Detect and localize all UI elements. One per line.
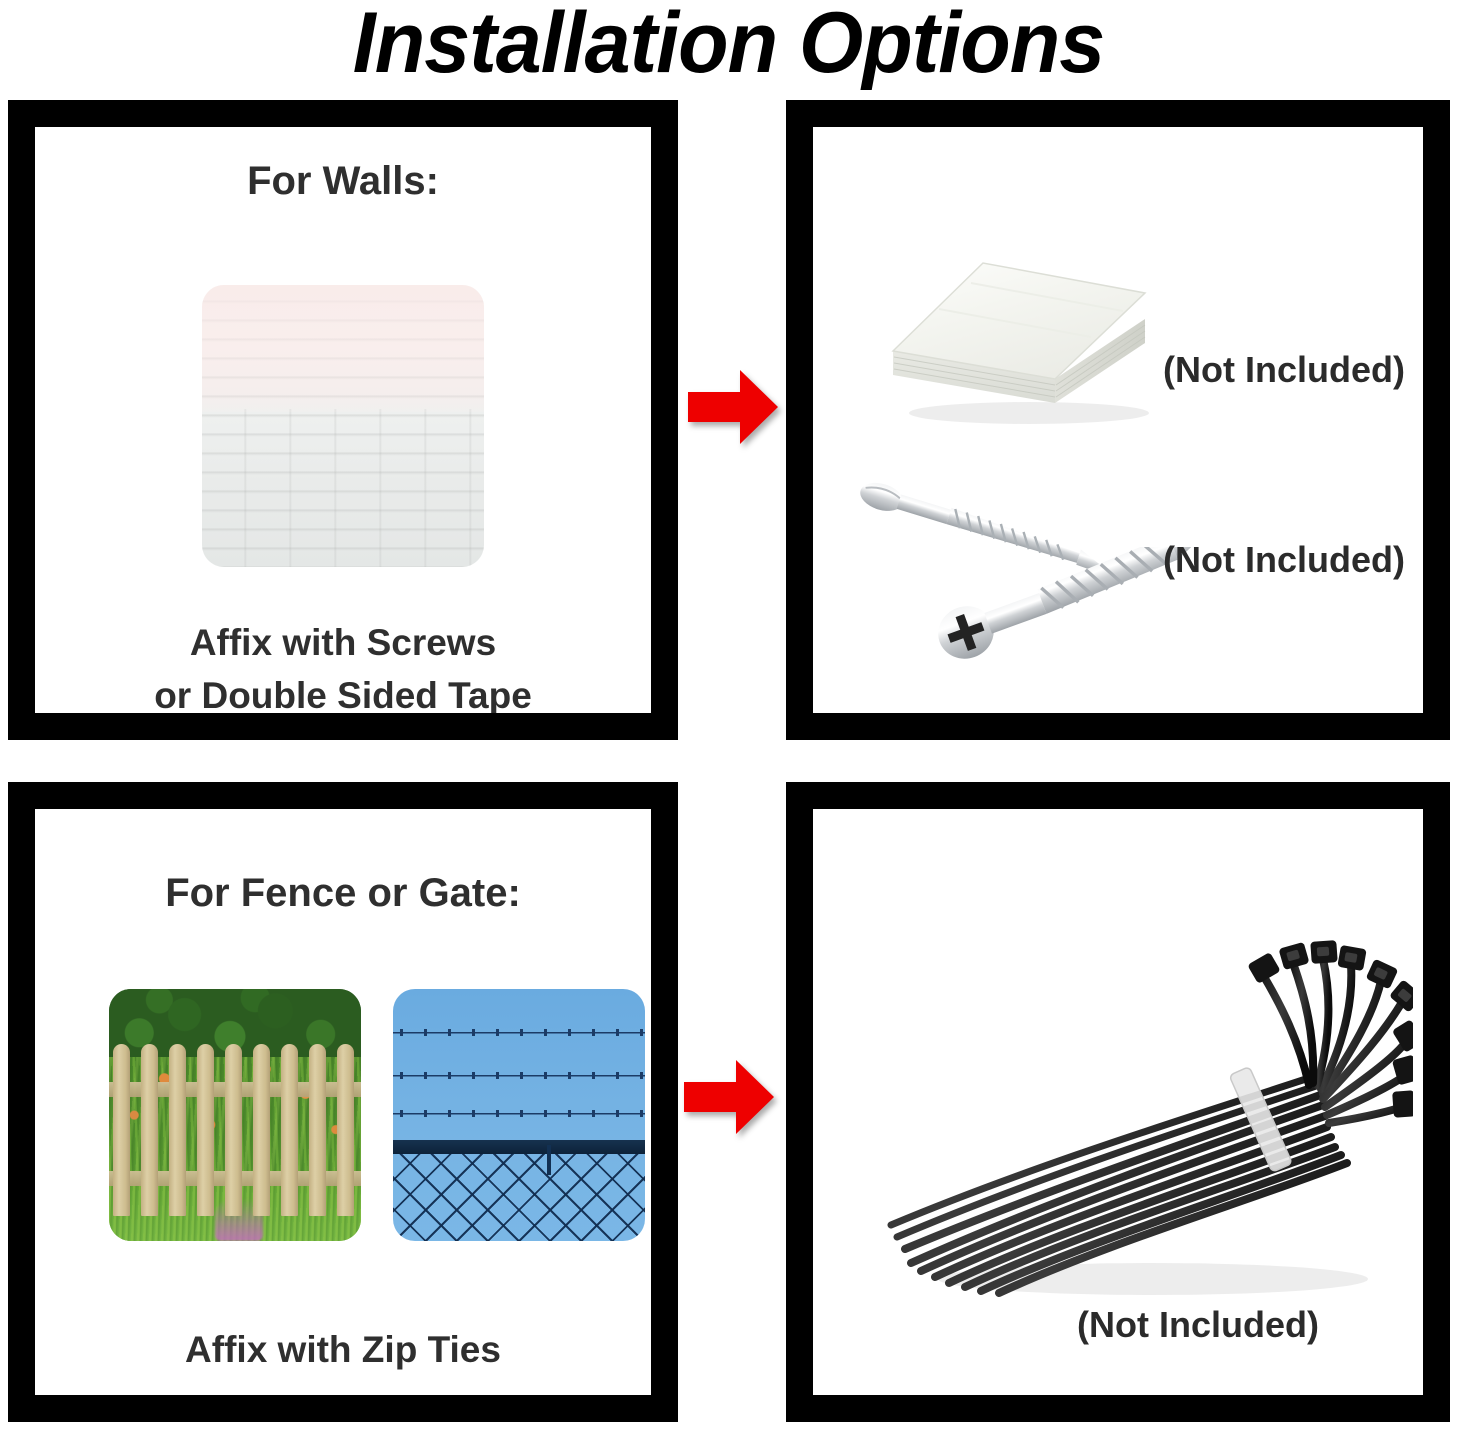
fence-picket	[309, 1044, 326, 1215]
walls-caption-line-2: or Double Sided Tape	[35, 675, 651, 713]
fence-picket	[197, 1044, 214, 1215]
red-right-arrow-icon	[684, 1058, 774, 1136]
chain-link-fence-thumbnail	[393, 989, 645, 1241]
fence-heading: For Fence or Gate:	[35, 871, 651, 916]
panel-zip-ties-content: (Not Included)	[813, 809, 1423, 1395]
red-right-arrow-icon	[688, 368, 778, 446]
walls-caption-line-1: Affix with Screws	[35, 622, 651, 664]
barbed-wire-strand	[393, 1072, 645, 1079]
panel-zip-ties: (Not Included)	[786, 782, 1450, 1422]
zip-tie-bundle-image	[853, 919, 1413, 1309]
panel-for-fence-or-gate: For Fence or Gate:	[8, 782, 678, 1422]
panel-for-walls: For Walls: Affix with Screws or Double S…	[8, 100, 678, 740]
panel-for-walls-content: For Walls: Affix with Screws or Double S…	[35, 127, 651, 713]
fence-picket	[337, 1044, 354, 1215]
fence-picket	[253, 1044, 270, 1215]
fence-picket	[141, 1044, 158, 1215]
walls-heading: For Walls:	[35, 159, 651, 204]
zip-ties-not-included-label: (Not Included)	[1077, 1304, 1319, 1346]
brick-wall-thumbnail	[202, 285, 484, 567]
fence-picket	[113, 1044, 130, 1215]
double-sided-tape-stack-image	[879, 247, 1169, 427]
tape-not-included-label: (Not Included)	[1163, 349, 1405, 391]
panel-wall-hardware-content: (Not Included)	[813, 127, 1423, 713]
panel-wall-hardware: (Not Included)	[786, 100, 1450, 740]
fence-pickets	[109, 1044, 361, 1215]
fence-caption: Affix with Zip Ties	[35, 1329, 651, 1371]
chain-link-mesh	[393, 1154, 645, 1241]
screws-not-included-label: (Not Included)	[1163, 539, 1405, 581]
fence-top-rail	[393, 1140, 645, 1154]
picket-fence-thumbnail	[109, 989, 361, 1241]
fence-picket	[169, 1044, 186, 1215]
barbed-wire-strand	[393, 1029, 645, 1036]
fence-picket	[281, 1044, 298, 1215]
panel-for-fence-content: For Fence or Gate:	[35, 809, 651, 1395]
barbed-wire-strand	[393, 1110, 645, 1117]
wall-top-highlight	[202, 285, 484, 412]
fence-picket	[225, 1044, 242, 1215]
brick-joint-lines	[202, 409, 484, 567]
page-title: Installation Options	[29, 0, 1428, 93]
